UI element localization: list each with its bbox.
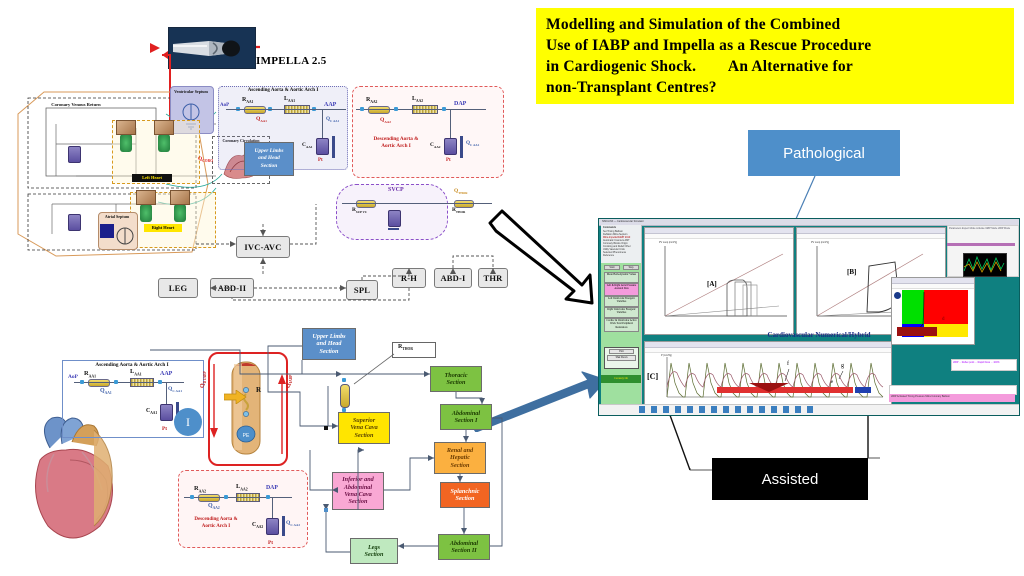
quadrant-menubar[interactable] — [892, 284, 974, 289]
control-panel-green-area: Start Stop Mean Hemodynamic Values Left … — [601, 263, 641, 413]
plot-a-canvas: [A] — [651, 240, 791, 330]
plot-c-annotation-e: e — [831, 380, 834, 385]
sim-right-note-text: IABP ... Reflex point ... Rapid flows ..… — [953, 361, 1013, 364]
plot-c-annotation-f: f — [787, 360, 789, 367]
sim-scope-trace — [963, 253, 1005, 275]
plot-c-annotation-g: g — [841, 363, 844, 369]
mode-button-cardiac-work[interactable]: Cardiac & Ventricular Active Work Total … — [604, 318, 639, 332]
sim-progress-bar-blue — [855, 387, 871, 393]
pathological-label: Pathological — [783, 145, 865, 162]
assisted-label: Assisted — [762, 471, 819, 488]
control-panel-menu-item[interactable]: Reference — [601, 254, 641, 257]
svg-text:[B]: [B] — [847, 268, 856, 276]
mode-button-lv-energetics[interactable]: Left Ventricular Energetic Variables — [604, 296, 639, 307]
title-line-4: non-Transplant Centres? — [546, 77, 1004, 98]
svg-text:[A]: [A] — [707, 280, 717, 288]
assisted-callout: Assisted — [712, 458, 868, 500]
pathological-callout: Pathological — [748, 130, 900, 176]
impella-arrow-head — [150, 40, 174, 54]
plot-c-id: [C] — [647, 372, 658, 381]
title-banner: Modelling and Simulation of the Combined… — [536, 8, 1014, 104]
lower-model-diagram: Ascending Aorta & Aortic Arch I AoP RAA1… — [10, 330, 510, 574]
sim-taskbar-icons[interactable] — [639, 406, 819, 413]
mode-button-atrial-pressure[interactable]: Left & Right Atrial Pressure Assisted Da… — [604, 283, 639, 296]
sim-progress-marker — [749, 383, 789, 393]
start-button[interactable]: Start — [604, 265, 620, 270]
mode-button-rv-energetics[interactable]: Right Ventricular Energetic Variables — [604, 307, 639, 318]
sim-alert-banner — [897, 327, 937, 336]
exit-button[interactable]: Exit — [609, 349, 634, 354]
exit-button-group: Exit Shut Down — [604, 347, 639, 369]
sim-right-dialog-text: Parameters Expert Mode Activate IABP Mod… — [949, 227, 1015, 230]
shut-down-button[interactable]: Shut Down — [607, 355, 636, 360]
plot-a-menubar[interactable] — [645, 234, 793, 239]
title-line-3: in Cardiogenic Shock. An Alternative for — [546, 56, 1004, 77]
upper-model-diagram: Coronary Venous Return Ventricular Septu… — [16, 84, 514, 314]
stop-button[interactable]: Stop — [623, 265, 639, 270]
mode-button-mean-hemodynamic[interactable]: Mean Hemodynamic Values — [604, 272, 639, 283]
plot-c-window[interactable]: P (mmHg) f g e [C] — [644, 341, 892, 405]
sim-caption: Cardiovascular Numerical/Hybrid — [729, 331, 909, 339]
simulation-screenshot[interactable]: SIMULINK — Cardiovascular Simulator Comm… — [598, 218, 1020, 416]
plot-b-menubar[interactable] — [797, 234, 945, 239]
lower-flow-connectors — [10, 330, 510, 574]
title-line-1: Modelling and Simulation of the Combined — [546, 14, 1004, 35]
plot-c-canvas: f g e — [649, 353, 889, 403]
coronary-status-badge: Coronary On — [601, 375, 641, 383]
sim-control-panel[interactable]: Commands Set Timing Balloon Deflation Mi… — [601, 225, 642, 413]
plot-a-window[interactable]: PV Loop (mmHg) [A] — [644, 227, 794, 335]
quadrant-marker-icon — [894, 292, 901, 299]
sim-bottom-pink-text: IABP Activated Timing Pressure Mitra Cor… — [891, 395, 1013, 398]
sim-right-highlight-bar — [947, 243, 1015, 246]
title-line-2: Use of IABP and Impella as a Rescue Proc… — [546, 35, 1004, 56]
pathological-flow-arrow — [486, 205, 602, 309]
sim-titlebar-text: SIMULINK — Cardiovascular Simulator — [602, 220, 802, 223]
flow-connectors — [16, 84, 514, 314]
impella-label: IMPELLA 2.5 — [256, 55, 327, 67]
svg-text:e: e — [926, 338, 928, 340]
